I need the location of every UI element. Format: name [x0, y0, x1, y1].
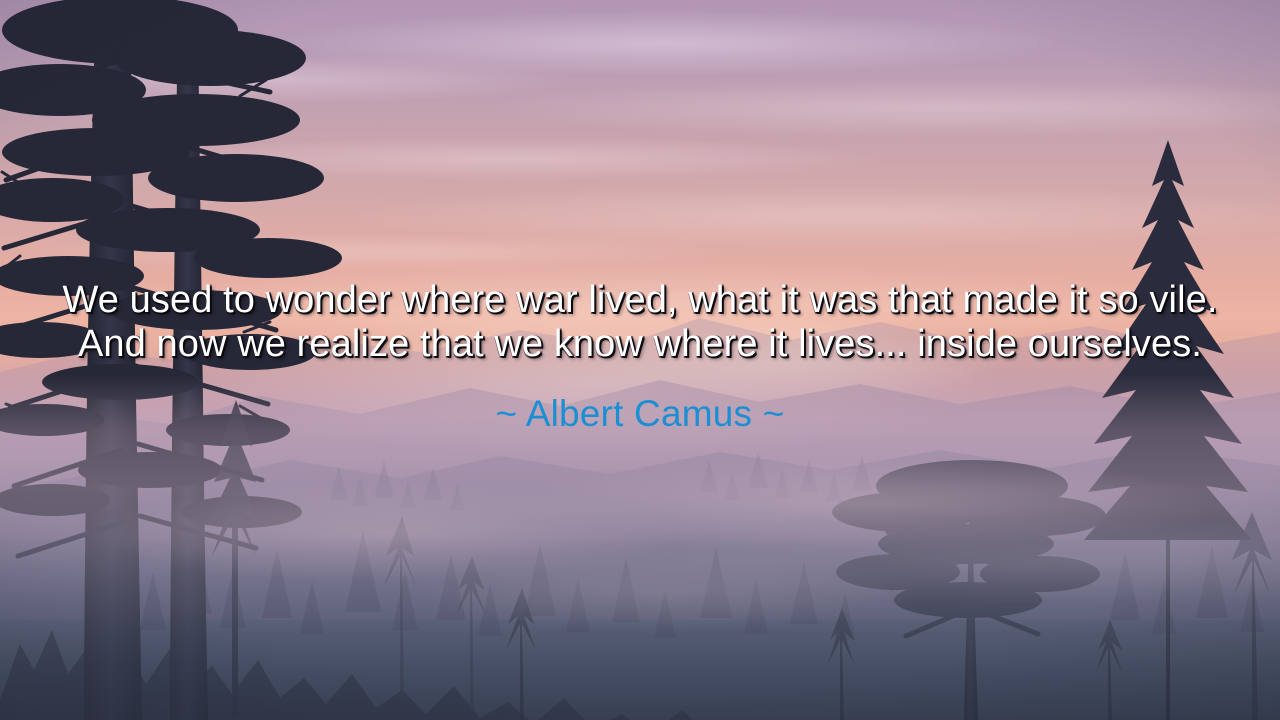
quote-overlay: We used to wonder where war lived, what …: [0, 278, 1280, 436]
quote-text: We used to wonder where war lived, what …: [60, 278, 1220, 366]
quote-author: ~ Albert Camus ~: [0, 392, 1280, 436]
quote-image-canvas: We used to wonder where war lived, what …: [0, 0, 1280, 720]
